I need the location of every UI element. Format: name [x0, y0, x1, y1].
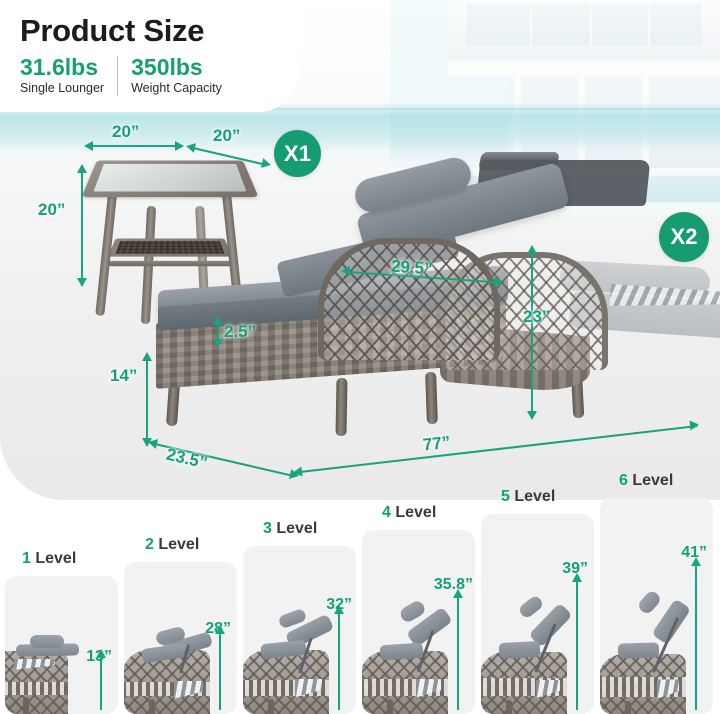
header-card: Product Size 31.6lbs Single Lounger 350l…: [0, 0, 300, 112]
header-stats: 31.6lbs Single Lounger 350lbs Weight Cap…: [20, 54, 300, 96]
recline-levels-section: 13” 1 Level 28” 2 Level: [0, 440, 720, 714]
cushion-thickness-arrow-up: [213, 316, 223, 325]
overall-length-arrow-left: [292, 467, 302, 478]
table-height-arrow-up: [77, 164, 87, 173]
table-width-arrow-right: [175, 141, 184, 151]
overall-length-label: 77”: [422, 432, 452, 455]
level-title-2: 2 Level: [145, 536, 199, 554]
stat-value: 31.6lbs: [20, 54, 104, 80]
seat-height-line: [146, 360, 148, 440]
table-height-label: 20”: [38, 200, 65, 220]
back-height-line: [531, 253, 533, 413]
stat-capacity: 350lbs Weight Capacity: [131, 54, 222, 96]
table-width-label: 20”: [112, 122, 139, 142]
level-title-1: 1 Level: [22, 550, 76, 568]
level-panel-3[interactable]: 32”: [243, 546, 356, 714]
level-panel-2[interactable]: 28”: [124, 562, 237, 714]
back-height-label: 23”: [523, 307, 550, 327]
table-width-line: [92, 145, 178, 147]
level-panel-5[interactable]: 39”: [481, 514, 594, 714]
level-arrow-up-2: [215, 625, 225, 634]
seat-height-arrow-up: [142, 352, 152, 361]
level-title-6: 6 Level: [619, 472, 673, 490]
arm-width-arrow-left: [341, 266, 350, 276]
back-height-arrow-down: [527, 411, 537, 420]
page-title: Product Size: [20, 12, 300, 50]
stat-label: Weight Capacity: [131, 80, 222, 96]
arm-width-arrow-right: [494, 277, 503, 287]
level-title-3: 3 Level: [263, 520, 317, 538]
level-panel-6[interactable]: 41”: [600, 498, 713, 714]
level-arrow-up-1: [96, 649, 106, 658]
overall-length-arrow-right: [689, 420, 699, 431]
level-panel-1[interactable]: 13”: [5, 576, 118, 714]
level-arrow-up-5: [572, 573, 582, 582]
table-width-arrow-left: [84, 141, 93, 151]
back-height-arrow-up: [527, 245, 537, 254]
level-panel-4[interactable]: 35.8”: [362, 530, 475, 714]
stat-divider: [117, 56, 118, 96]
stat-weight: 31.6lbs Single Lounger: [20, 54, 104, 96]
stat-value: 350lbs: [131, 54, 222, 80]
lounger-quantity-badge: X2: [659, 212, 709, 262]
table-quantity-badge: X1: [274, 130, 321, 177]
table-depth-label: 20”: [213, 126, 240, 146]
table-height-arrow-down: [77, 278, 87, 287]
seat-height-label: 14”: [110, 366, 137, 386]
cushion-thickness-arrow-down: [213, 339, 223, 348]
level-title-5: 5 Level: [501, 488, 555, 506]
arm-width-label: 29.5”: [390, 257, 433, 280]
table-height-line: [81, 172, 83, 280]
level-arrow-up-6: [691, 557, 701, 566]
cushion-thickness-label: 2.5”: [224, 322, 256, 342]
level-arrow-up-4: [453, 589, 463, 598]
level-arrow-up-3: [334, 605, 344, 614]
stat-label: Single Lounger: [20, 80, 104, 96]
level-title-4: 4 Level: [382, 504, 436, 522]
chaise-lounger-illustration: [140, 160, 700, 460]
